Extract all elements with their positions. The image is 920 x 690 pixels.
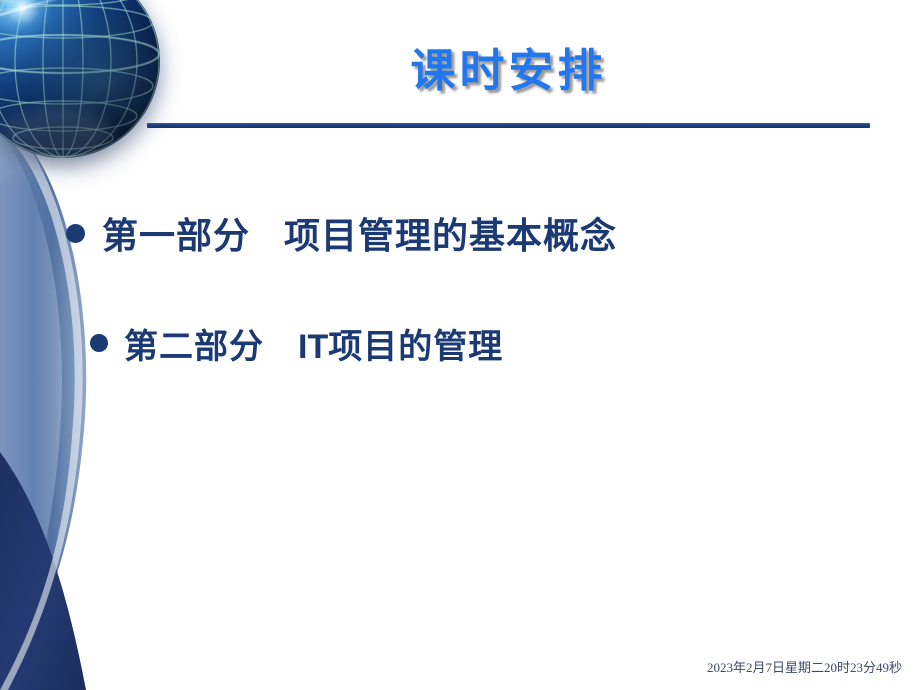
timestamp: 2023年2月7日星期二20时23分49秒 xyxy=(707,657,902,676)
list-item-part: 第二部分 xyxy=(124,328,264,366)
list-item-label: 第一部分项目管理的基本概念 xyxy=(102,207,617,259)
page-title: 课时安排 xyxy=(147,46,870,96)
bullet-dot-icon xyxy=(90,334,108,352)
list-item-part: 第一部分 xyxy=(102,215,250,256)
list-item[interactable]: 第二部分IT项目的管理 xyxy=(0,306,920,380)
slide: 课时安排 第一部分项目管理的基本概念 第二部分IT项目的管理 2023年2月7日… xyxy=(0,0,920,690)
list-item[interactable]: 第一部分项目管理的基本概念 xyxy=(0,196,920,270)
list-item-emphasis: IT xyxy=(298,328,328,366)
content-list: 第一部分项目管理的基本概念 第二部分IT项目的管理 xyxy=(0,196,920,380)
globe-cast-shadow xyxy=(0,106,114,164)
list-item-detail: 项目管理的基本概念 xyxy=(284,215,617,256)
list-item-detail: 项目的管理 xyxy=(328,328,503,366)
globe-icon xyxy=(0,0,168,166)
bullet-dot-icon xyxy=(66,224,85,243)
title-underline-rule xyxy=(147,123,870,128)
list-item-label: 第二部分IT项目的管理 xyxy=(124,319,503,368)
